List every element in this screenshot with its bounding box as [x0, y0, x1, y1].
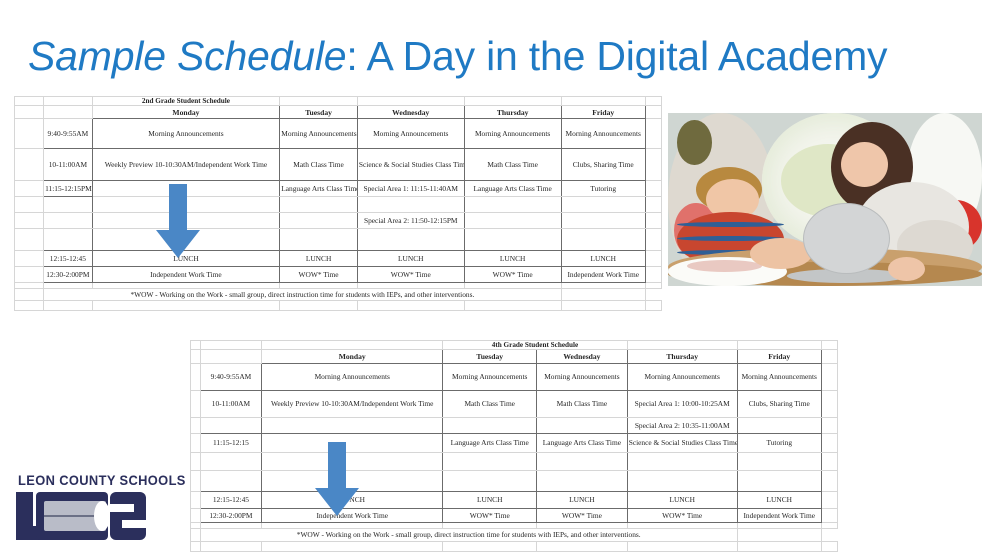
grid-spacer	[821, 471, 837, 492]
grid-spacer	[280, 97, 358, 106]
schedule-cell	[464, 213, 561, 229]
arrow-head	[156, 230, 200, 258]
grid-spacer	[262, 541, 443, 551]
grid-spacer	[645, 267, 661, 283]
schedule-cell: WOW* Time	[443, 508, 537, 522]
column-header-monday: Monday	[262, 350, 443, 363]
schedule-cell	[280, 213, 358, 229]
grid-spacer	[191, 452, 201, 471]
schedule-cell: Morning Announcements	[280, 119, 358, 149]
schedule-footnote-grade2: *WOW - Working on the Work - small group…	[44, 289, 562, 301]
grid-spacer	[191, 350, 201, 363]
schedule-cell: Morning Announcements	[561, 119, 645, 149]
grid-spacer	[44, 106, 93, 119]
grid-spacer	[200, 341, 261, 350]
schedule-cell	[280, 229, 358, 251]
schedule-cell: Science & Social Studies Class Time	[357, 149, 464, 181]
grid-spacer	[821, 541, 837, 551]
grid-spacer	[191, 471, 201, 492]
grid-spacer	[191, 434, 201, 453]
schedule-cell: LUNCH	[443, 491, 537, 508]
time-slot: 10-11:00AM	[200, 390, 261, 417]
grid-spacer	[15, 301, 44, 311]
schedule-cell: Morning Announcements	[737, 363, 821, 390]
time-slot	[44, 229, 93, 251]
grid-spacer	[15, 213, 44, 229]
photo-woman-face	[841, 142, 888, 187]
grid-spacer	[821, 491, 837, 508]
photo-picture-frame	[677, 120, 712, 165]
schedule-cell: Language Arts Class Time	[443, 434, 537, 453]
schedule-cell	[357, 197, 464, 213]
time-slot	[200, 471, 261, 492]
column-header-wednesday: Wednesday	[537, 350, 628, 363]
schedule-cell	[561, 197, 645, 213]
grid-spacer	[200, 350, 261, 363]
schedule-cell: Independent Work Time	[561, 267, 645, 283]
schedule-cell	[561, 229, 645, 251]
grid-spacer	[15, 119, 44, 149]
time-slot: 12:30-2:00PM	[200, 508, 261, 522]
photo-laptop-screen	[803, 203, 890, 274]
grid-spacer	[15, 251, 44, 267]
schedule-cell: LUNCH	[627, 491, 737, 508]
down-arrow-icon-grade4	[315, 442, 359, 516]
schedule-cell: Tutoring	[561, 181, 645, 197]
grid-spacer	[645, 149, 661, 181]
grid-spacer	[821, 434, 837, 453]
column-header-wednesday: Wednesday	[357, 106, 464, 119]
schedule-cell: Special Area 2: 10:35-11:00AM	[627, 417, 737, 434]
grid-spacer	[645, 301, 661, 311]
grid-spacer	[357, 97, 464, 106]
grid-spacer	[200, 541, 261, 551]
grid-spacer	[821, 341, 837, 350]
schedule-cell: Math Class Time	[280, 149, 358, 181]
time-slot: 11:15-12:15	[200, 434, 261, 453]
time-slot: 11:15-12:15PM	[44, 181, 93, 197]
schedule-cell: WOW* Time	[357, 267, 464, 283]
schedule-cell: LUNCH	[357, 251, 464, 267]
grid-spacer	[645, 213, 661, 229]
schedule-title-grade2: 2nd Grade Student Schedule	[92, 97, 280, 106]
schedule-cell	[537, 417, 628, 434]
column-header-friday: Friday	[737, 350, 821, 363]
schedule-cell: LUNCH	[537, 491, 628, 508]
schedule-cell: WOW* Time	[537, 508, 628, 522]
grid-spacer	[645, 229, 661, 251]
schedule-cell: Morning Announcements	[443, 363, 537, 390]
grid-spacer	[191, 341, 201, 350]
column-header-thursday: Thursday	[464, 106, 561, 119]
schedule-cell: Morning Announcements	[262, 363, 443, 390]
grid-spacer	[15, 97, 44, 106]
logo-wordmark: LEON COUNTY SCHOOLS	[18, 472, 147, 488]
photo-woman-hand	[888, 257, 926, 281]
column-header-tuesday: Tuesday	[443, 350, 537, 363]
column-header-thursday: Thursday	[627, 350, 737, 363]
classroom-photo	[668, 113, 982, 286]
schedule-table-grade2: 2nd Grade Student Schedule Monday Tuesda…	[14, 96, 662, 308]
grid-spacer	[537, 541, 628, 551]
grid-spacer	[645, 119, 661, 149]
schedule-cell: LUNCH	[280, 251, 358, 267]
schedule-cell: WOW* Time	[464, 267, 561, 283]
grid-spacer	[15, 149, 44, 181]
time-slot	[200, 417, 261, 434]
schedule-cell	[561, 213, 645, 229]
grid-spacer	[92, 301, 280, 311]
grid-spacer	[15, 106, 44, 119]
schedule-cell	[443, 417, 537, 434]
grid-spacer	[191, 508, 201, 522]
schedule-cell: Science & Social Studies Class Time	[627, 434, 737, 453]
schedule-cell: Clubs, Sharing Time	[737, 390, 821, 417]
schedule-cell	[737, 452, 821, 471]
schedule-title-grade4: 4th Grade Student Schedule	[443, 341, 627, 350]
schedule-cell: Math Class Time	[443, 390, 537, 417]
schedule-cell: Clubs, Sharing Time	[561, 149, 645, 181]
arrow-head	[315, 488, 359, 516]
grid-spacer	[737, 529, 821, 541]
logo-letter-s-gap	[110, 504, 134, 512]
grid-spacer	[15, 289, 44, 301]
grid-spacer	[15, 181, 44, 197]
schedule-cell	[537, 452, 628, 471]
schedule-cell: Math Class Time	[537, 390, 628, 417]
spreadsheet-grid-grade2: 2nd Grade Student Schedule Monday Tuesda…	[14, 96, 662, 311]
schedule-cell: Language Arts Class Time	[464, 181, 561, 197]
schedule-cell: Independent Work Time	[92, 267, 280, 283]
schedule-cell: Language Arts Class Time	[280, 181, 358, 197]
time-slot: 10-11:00AM	[44, 149, 93, 181]
logo-letter-c-notch	[94, 501, 110, 531]
schedule-cell: LUNCH	[464, 251, 561, 267]
schedule-cell: Special Area 2: 11:50-12:15PM	[357, 213, 464, 229]
time-slot: 12:30-2:00PM	[44, 267, 93, 283]
grid-spacer	[561, 289, 645, 301]
grid-spacer	[821, 390, 837, 417]
grid-spacer	[737, 341, 821, 350]
time-slot	[44, 213, 93, 229]
schedule-cell	[262, 417, 443, 434]
time-slot	[44, 197, 93, 213]
schedule-cell	[443, 471, 537, 492]
schedule-cell	[737, 417, 821, 434]
grid-spacer	[191, 390, 201, 417]
grid-spacer	[821, 522, 837, 528]
grid-spacer	[15, 197, 44, 213]
schedule-cell: Morning Announcements	[537, 363, 628, 390]
grid-spacer	[191, 541, 201, 551]
time-slot: 9:40-9:55AM	[44, 119, 93, 149]
schedule-cell	[280, 197, 358, 213]
grid-spacer	[645, 197, 661, 213]
grid-spacer	[821, 452, 837, 471]
schedule-cell: Weekly Preview 10-10:30AM/Independent Wo…	[92, 149, 280, 181]
grid-spacer	[464, 301, 561, 311]
grid-spacer	[561, 301, 645, 311]
grid-spacer	[645, 181, 661, 197]
schedule-table-grade4: 4th Grade Student Schedule Monday Tuesda…	[190, 340, 838, 552]
grid-spacer	[191, 417, 201, 434]
page-title-rest: : A Day in the Digital Academy	[346, 33, 887, 79]
schedule-cell	[443, 452, 537, 471]
grid-spacer	[645, 283, 661, 289]
grid-spacer	[627, 541, 737, 551]
logo-monogram-lcs	[12, 490, 154, 546]
grid-spacer	[645, 106, 661, 119]
schedule-cell	[537, 471, 628, 492]
grid-spacer	[821, 508, 837, 522]
schedule-cell	[737, 471, 821, 492]
schedule-cell: WOW* Time	[280, 267, 358, 283]
schedule-cell	[464, 197, 561, 213]
grid-spacer	[44, 301, 93, 311]
grid-spacer	[191, 363, 201, 390]
time-slot: 12:15-12:45	[200, 491, 261, 508]
schedule-cell: Weekly Preview 10-10:30AM/Independent Wo…	[262, 390, 443, 417]
schedule-cell: Language Arts Class Time	[537, 434, 628, 453]
grid-spacer	[821, 417, 837, 434]
column-header-friday: Friday	[561, 106, 645, 119]
schedule-cell	[357, 229, 464, 251]
grid-spacer	[627, 341, 737, 350]
grid-spacer	[15, 229, 44, 251]
grid-spacer	[280, 301, 358, 311]
schedule-cell	[464, 229, 561, 251]
arrow-shaft	[169, 184, 187, 232]
grid-spacer	[44, 97, 93, 106]
schedule-cell: Independent Work Time	[737, 508, 821, 522]
spreadsheet-grid-grade4: 4th Grade Student Schedule Monday Tuesda…	[190, 340, 838, 552]
time-slot: 9:40-9:55AM	[200, 363, 261, 390]
schedule-cell: Special Area 1: 10:00-10:25AM	[627, 390, 737, 417]
arrow-shaft	[328, 442, 346, 490]
schedule-cell: WOW* Time	[627, 508, 737, 522]
grid-spacer	[191, 529, 201, 541]
grid-spacer	[561, 97, 645, 106]
schedule-cell: Morning Announcements	[627, 363, 737, 390]
schedule-cell: LUNCH	[561, 251, 645, 267]
logo-letter-s-gap	[122, 520, 146, 528]
grid-spacer	[737, 541, 821, 551]
grid-spacer	[464, 97, 561, 106]
page-title: Sample Schedule: A Day in the Digital Ac…	[28, 28, 968, 84]
down-arrow-icon-grade2	[156, 184, 200, 258]
grid-spacer	[645, 97, 661, 106]
time-slot	[200, 452, 261, 471]
logo-letter-s	[110, 492, 146, 540]
grid-spacer	[821, 363, 837, 390]
time-slot: 12:15-12:45	[44, 251, 93, 267]
leon-county-schools-logo: LEON COUNTY SCHOOLS	[8, 470, 158, 548]
schedule-cell: Morning Announcements	[464, 119, 561, 149]
schedule-cell: Special Area 1: 11:15-11:40AM	[357, 181, 464, 197]
schedule-cell: LUNCH	[737, 491, 821, 508]
schedule-cell: Morning Announcements	[92, 119, 280, 149]
grid-spacer	[262, 341, 443, 350]
grid-spacer	[357, 301, 464, 311]
grid-spacer	[15, 267, 44, 283]
grid-spacer	[443, 541, 537, 551]
schedule-cell: Math Class Time	[464, 149, 561, 181]
column-header-monday: Monday	[92, 106, 280, 119]
grid-spacer	[191, 491, 201, 508]
schedule-footnote-grade4: *WOW - Working on the Work - small group…	[200, 529, 737, 541]
page-title-emphasis: Sample Schedule	[28, 33, 346, 79]
schedule-cell	[627, 471, 737, 492]
schedule-cell: Morning Announcements	[357, 119, 464, 149]
grid-spacer	[821, 350, 837, 363]
column-header-tuesday: Tuesday	[280, 106, 358, 119]
schedule-cell: Tutoring	[737, 434, 821, 453]
grid-spacer	[645, 251, 661, 267]
schedule-cell	[627, 452, 737, 471]
